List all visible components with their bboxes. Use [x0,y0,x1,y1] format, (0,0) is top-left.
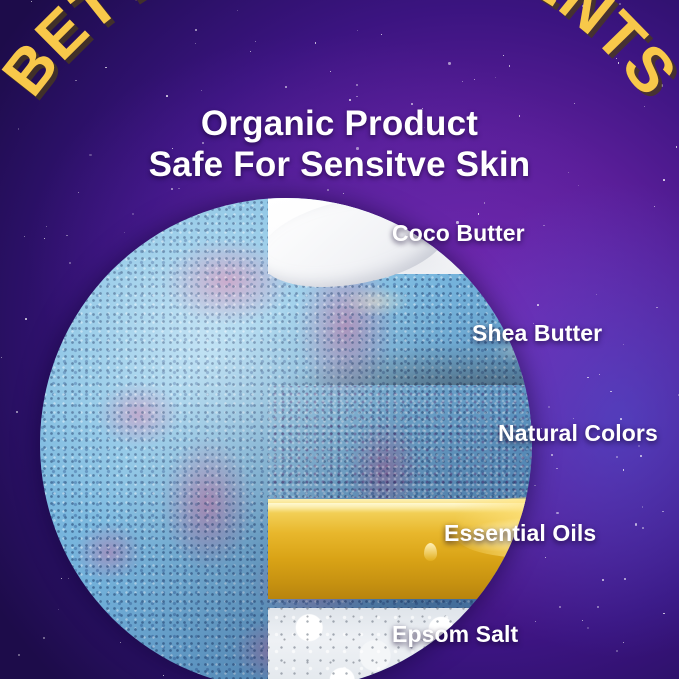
infographic-canvas: BETTER INGREDIENTS BETTER INGREDIENTS Or… [0,0,679,679]
ingredient-swatch-essential-oils [268,499,679,599]
product-artwork: Coco Butter Shea Butter Natural Colors E… [0,0,679,679]
ingredient-label-shea-butter: Shea Butter [472,320,602,347]
ingredient-label-essential-oils: Essential Oils [444,520,596,547]
ingredient-label-natural-colors: Natural Colors [498,420,658,447]
ingredient-label-epsom-salt: Epsom Salt [392,621,518,648]
oil-droplet-decoration [424,543,437,561]
ingredient-label-coco-butter: Coco Butter [392,220,525,247]
